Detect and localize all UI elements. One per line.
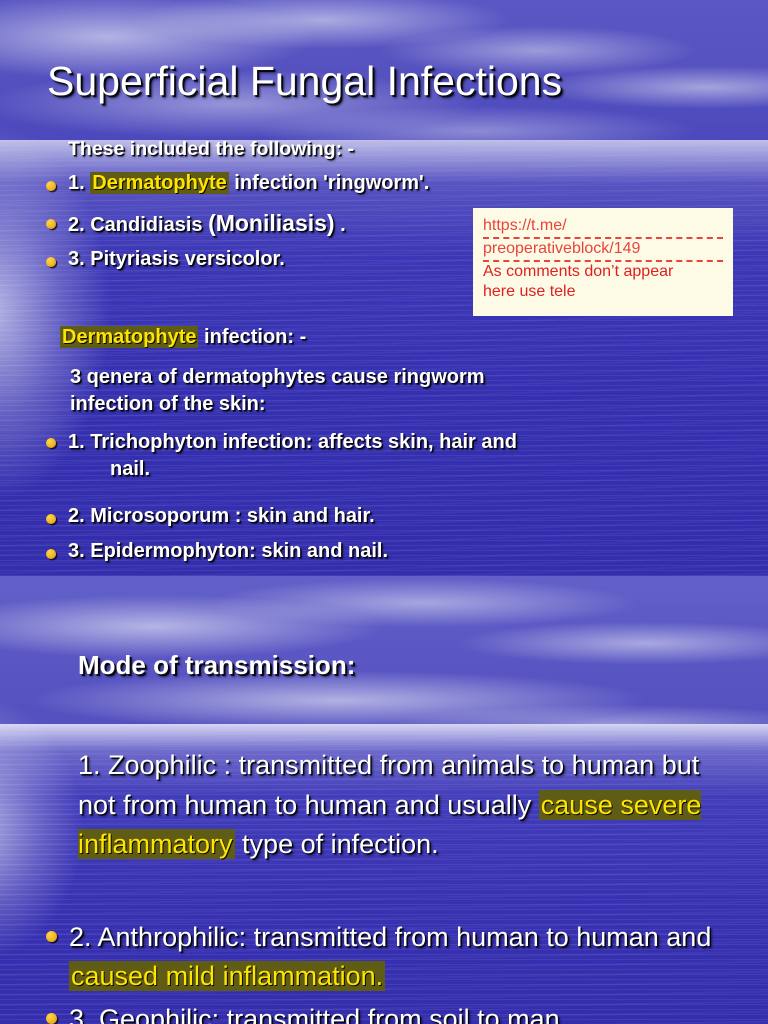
list-item-rest: infection 'ringworm'. [229, 172, 430, 194]
slide-2-heading: Mode of transmission: [78, 650, 355, 681]
telegram-link-line-1[interactable]: https://t.me/ [483, 216, 723, 239]
bullet-dot-icon [46, 931, 57, 942]
transmission-item-anthrophilic: 2. Anthrophilic: transmitted from human … [46, 918, 746, 996]
note-text-line-2: here use tele [483, 282, 723, 303]
list-item: 3. Pityriasis versicolor. [46, 248, 285, 271]
list-item: 3. Epidermophyton: skin and nail. [46, 540, 388, 563]
list-item-label: 1. Dermatophyte infection 'ringworm'. [68, 172, 429, 195]
slide-1: Superficial Fungal Infections These incl… [0, 0, 768, 576]
dermatophyte-subtext-line-1: 3 qenera of dermatophytes cause ringworm [70, 364, 710, 391]
bullet-dot-icon [46, 514, 56, 524]
anthrophilic-pre-text: 2. Anthrophilic: transmitted from human … [69, 922, 711, 952]
list-item-label: 3. Pityriasis versicolor. [68, 248, 285, 271]
bullet-dot-icon [46, 257, 56, 267]
anthrophilic-label: 2. Anthrophilic: transmitted from human … [69, 918, 746, 996]
transmission-item-geophilic: 3. Geophilic: transmitted from soil to m… [46, 1000, 746, 1024]
bullet-dot-icon [46, 438, 56, 448]
presentation-page: Superficial Fungal Infections These incl… [0, 0, 768, 1024]
list-item-number: 2. Candidiasis [68, 214, 208, 236]
slide-2-content: Mode of transmission: 1. Zoophilic : tra… [0, 576, 768, 1024]
dermatophyte-heading-rest: infection: - [198, 326, 306, 348]
highlighted-term: Dermatophyte [90, 172, 228, 194]
note-text-line-1: As comments don’t appear [483, 262, 723, 283]
genus-line-1: 1. Trichophyton infection: affects skin,… [68, 429, 517, 456]
list-item-label: 3. Epidermophyton: skin and nail. [68, 540, 388, 563]
slide-1-title: Superficial Fungal Infections [47, 58, 562, 105]
list-item: 2. Microsoporum : skin and hair. [46, 505, 375, 528]
list-item-label: 1. Trichophyton infection: affects skin,… [68, 429, 517, 483]
dermatophyte-section-heading: Dermatophyte infection: - [60, 326, 306, 349]
bullet-dot-icon [46, 219, 56, 229]
genus-line-2: nail. [68, 456, 517, 483]
dermatophyte-subtext-line-2: infection of the skin: [70, 391, 710, 418]
list-item: 1. Dermatophyte infection 'ringworm'. [46, 172, 429, 195]
list-item-number: 1. [68, 172, 90, 194]
list-item-label: 2. Microsoporum : skin and hair. [68, 505, 375, 528]
bullet-dot-icon [46, 181, 56, 191]
list-item: 2. Candidiasis (Moniliasis) . [46, 210, 346, 237]
transmission-item-zoophilic: 1. Zoophilic : transmitted from animals … [78, 746, 738, 865]
highlighted-term: caused mild inflammation. [69, 961, 385, 991]
highlighted-term: Dermatophyte [60, 326, 198, 348]
telegram-link-line-2[interactable]: preoperativeblock/149 [483, 239, 723, 262]
slide-1-content: Superficial Fungal Infections These incl… [0, 0, 768, 576]
slide-1-lead-text: These included the following: - [68, 138, 354, 161]
bullet-dot-icon [46, 549, 56, 559]
dermatophyte-subtext: 3 qenera of dermatophytes cause ringworm… [70, 364, 710, 417]
list-item-emphasis: (Moniliasis) [208, 210, 335, 236]
list-item: 1. Trichophyton infection: affects skin,… [46, 429, 746, 483]
list-item-label: 2. Candidiasis (Moniliasis) . [68, 210, 346, 237]
zoophilic-post-text: type of infection. [235, 829, 439, 859]
list-item-rest: . [335, 214, 346, 236]
telegram-note-box: https://t.me/ preoperativeblock/149 As c… [473, 208, 733, 316]
bullet-dot-icon [46, 1013, 57, 1024]
geophilic-label: 3. Geophilic: transmitted from soil to m… [69, 1000, 560, 1024]
slide-2: Mode of transmission: 1. Zoophilic : tra… [0, 576, 768, 1024]
